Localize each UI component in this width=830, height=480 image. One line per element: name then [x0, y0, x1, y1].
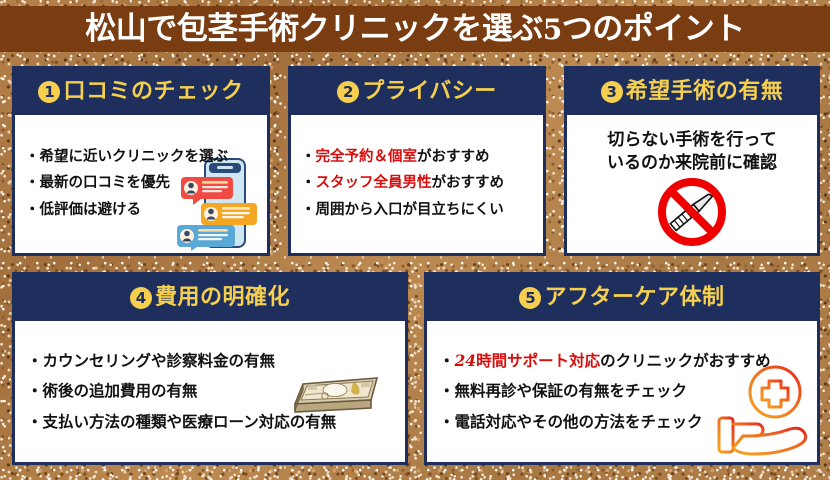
plain-text: のクリニックがおすすめ — [600, 352, 771, 370]
card-1-body: 希望に近いクリニックを選ぶ 最新の口コミを優先 低評価は避ける — [15, 115, 267, 253]
card-2-bullet-list: 完全予約＆個室がおすすめ スタッフ全員男性がおすすめ 周囲から入口が目立ちにくい — [291, 140, 543, 228]
plain-text: がおすすめ — [432, 175, 505, 191]
card-4-title: 費用の明確化 — [155, 287, 290, 309]
list-item: 周囲から入口が目立ちにくい — [301, 202, 543, 219]
card-4-body: カウンセリングや診察料金の有無 術後の追加費用の有無 支払い方法の種類や医療ロー… — [15, 321, 405, 462]
card-5-bullet-list: 24時間サポート対応のクリニックがおすすめ 無料再診や保証の有無をチェック 電話… — [427, 340, 817, 444]
point-card-5: 5 アフターケア体制 24時間サポート対応のクリニックがおすすめ 無料再診や保証… — [424, 272, 820, 465]
list-item: 電話対応やその他の方法をチェック — [439, 413, 817, 432]
card-2-title: プライバシー — [362, 81, 497, 103]
page-title: 松山で包茎手術クリニックを選ぶ5つのポイント — [85, 14, 744, 45]
point-card-3: 3 希望手術の有無 切らない手術を行っているのか来院前に確認 — [564, 66, 820, 256]
plain-text: がおすすめ — [417, 149, 490, 165]
list-item: 低評価は避ける — [25, 202, 267, 219]
card-2-header: 2 プライバシー — [291, 69, 543, 115]
card-3-description: 切らない手術を行っているのか来院前に確認 — [567, 123, 817, 175]
point-card-1: 1 口コミのチェック 希望に近いクリニックを選ぶ 最新の口コミを優先 低評価は避… — [12, 66, 270, 256]
list-item: 支払い方法の種類や医療ローン対応の有無 — [27, 413, 405, 432]
card-1-bullet-list: 希望に近いクリニックを選ぶ 最新の口コミを優先 低評価は避ける — [15, 140, 267, 228]
highlight-number: 24 — [455, 351, 477, 370]
highlight-text: 時間サポート対応 — [476, 352, 600, 370]
card-5-title: アフターケア体制 — [544, 287, 724, 309]
list-item: 術後の追加費用の有無 — [27, 382, 405, 401]
point-card-2: 2 プライバシー 完全予約＆個室がおすすめ スタッフ全員男性がおすすめ 周囲から… — [288, 66, 546, 256]
card-3-header: 3 希望手術の有無 — [567, 69, 817, 115]
card-5-header: 5 アフターケア体制 — [427, 275, 817, 321]
page-title-number: 5 — [543, 13, 562, 46]
card-5-number-badge: 5 — [519, 287, 541, 309]
card-5-body: 24時間サポート対応のクリニックがおすすめ 無料再診や保証の有無をチェック 電話… — [427, 321, 817, 462]
card-2-number-badge: 2 — [337, 81, 359, 103]
card-3-number-badge: 3 — [601, 81, 623, 103]
no-scalpel-prohibition-icon — [650, 173, 734, 251]
list-item: 無料再診や保証の有無をチェック — [439, 382, 817, 401]
card-3-body: 切らない手術を行っているのか来院前に確認 — [567, 115, 817, 253]
card-1-number-badge: 1 — [38, 81, 60, 103]
page-title-post: つのポイント — [562, 11, 745, 47]
highlight-text: スタッフ全員男性 — [316, 175, 432, 191]
header-bar: 松山で包茎手術クリニックを選ぶ5つのポイント — [0, 6, 830, 52]
card-4-number-badge: 4 — [130, 287, 152, 309]
card-1-header: 1 口コミのチェック — [15, 69, 267, 115]
card-4-bullet-list: カウンセリングや診察料金の有無 術後の追加費用の有無 支払い方法の種類や医療ロー… — [15, 340, 405, 444]
list-item: カウンセリングや診察料金の有無 — [27, 352, 405, 371]
card-1-title: 口コミのチェック — [63, 81, 243, 103]
list-item: 24時間サポート対応のクリニックがおすすめ — [439, 352, 817, 371]
list-item: 希望に近いクリニックを選ぶ — [25, 149, 267, 166]
page-title-pre: 松山で包茎手術クリニックを選ぶ — [85, 11, 543, 47]
infographic-canvas: 松山で包茎手術クリニックを選ぶ5つのポイント 1 口コミのチェック 希望に近いク… — [0, 0, 830, 480]
highlight-text: 完全予約＆個室 — [316, 149, 418, 165]
point-card-4: 4 費用の明確化 カウンセリングや診察料金の有無 術後の追加費用の有無 支払い方… — [12, 272, 408, 465]
list-item: 完全予約＆個室がおすすめ — [301, 149, 543, 166]
list-item: スタッフ全員男性がおすすめ — [301, 175, 543, 192]
card-4-header: 4 費用の明確化 — [15, 275, 405, 321]
card-2-body: 完全予約＆個室がおすすめ スタッフ全員男性がおすすめ 周囲から入口が目立ちにくい — [291, 115, 543, 253]
list-item: 最新の口コミを優先 — [25, 175, 267, 192]
card-3-title: 希望手術の有無 — [626, 81, 784, 103]
